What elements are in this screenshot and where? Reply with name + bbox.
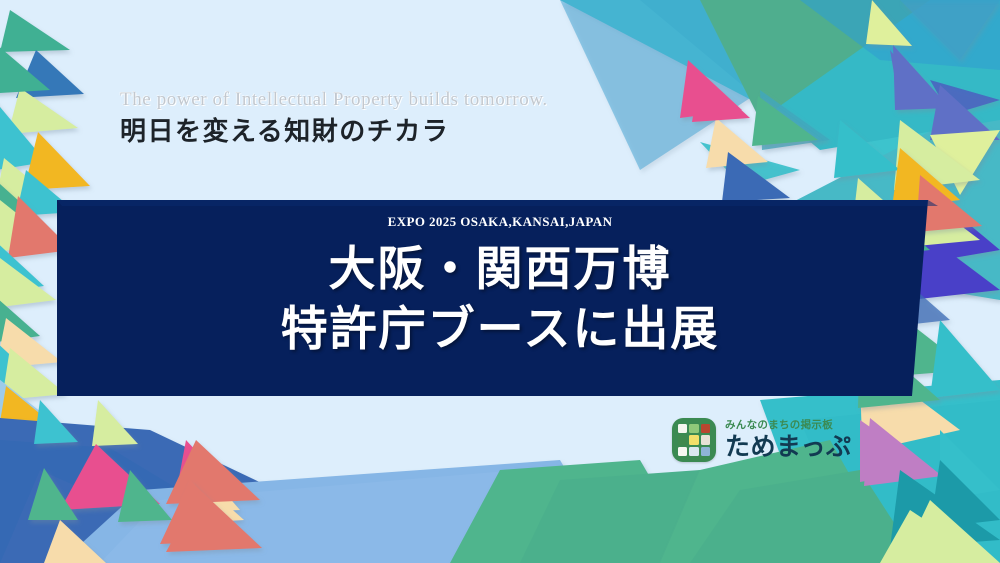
logo-tile-5: [689, 435, 698, 444]
logo-tile-grid: [678, 424, 710, 456]
logo-tile-1: [678, 424, 687, 433]
logo-name: ためまっぷ: [725, 433, 852, 460]
logo-subtitle: みんなのまちの掲示板: [725, 420, 852, 431]
tagline-block: The power of Intellectual Property build…: [120, 90, 548, 148]
logo-tile-6: [701, 435, 710, 444]
logo-tile-9: [701, 447, 710, 456]
logo-tile-8: [689, 447, 698, 456]
tagline-japanese: 明日を変える知財のチカラ: [120, 118, 548, 148]
logo-tile-3: [701, 424, 710, 433]
tamemap-logo-icon: [672, 418, 716, 462]
logo-tile-2: [689, 424, 698, 433]
poster-canvas: The power of Intellectual Property build…: [0, 0, 1000, 563]
logo-tile-7: [678, 447, 687, 456]
tagline-english: The power of Intellectual Property build…: [120, 90, 548, 111]
decorative-triangles-background: [0, 0, 1000, 563]
logo-tile-4: [678, 435, 687, 444]
tamemap-logo[interactable]: みんなのまちの掲示板 ためまっぷ: [672, 418, 852, 462]
logo-wordmark: みんなのまちの掲示板 ためまっぷ: [725, 420, 852, 461]
